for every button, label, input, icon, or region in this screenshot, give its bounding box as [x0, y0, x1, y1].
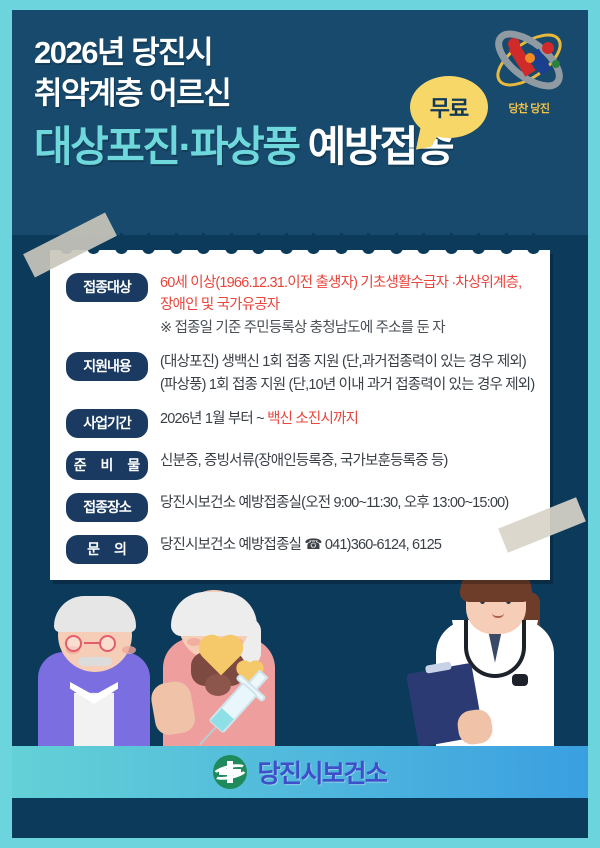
- doctor-illustration: [418, 555, 568, 770]
- free-badge-label: 무료: [430, 91, 468, 123]
- info-row-label: 사업기간: [66, 409, 148, 438]
- info-text: 신분증, 증빙서류(장애인등록증, 국가보훈등록증 등): [160, 453, 448, 469]
- info-text: 2026년 1월 부터 ~: [160, 411, 267, 427]
- info-row-content: 신분증, 증빙서류(장애인등록증, 국가보훈등록증 등): [148, 450, 532, 472]
- title-vaccine-names: 대상포진·파상풍: [34, 123, 298, 170]
- info-card-wrapper: 접종대상60세 이상(1966.12.31.이전 출생자) 기초생활수급자 ·차…: [50, 250, 550, 580]
- info-row-content: (대상포진) 생백신 1회 접종 지원 (단,과거접종력이 있는 경우 제외)(…: [148, 351, 534, 396]
- poster-footer: 당진시보건소: [12, 746, 588, 798]
- title-line-3: 대상포진·파상풍 예방접종: [34, 124, 566, 170]
- info-row-label: 접종대상: [66, 273, 148, 302]
- dangjin-city-emblem-icon: 당찬 당진: [486, 24, 572, 116]
- info-row-label: 지원내용: [66, 352, 148, 381]
- info-row-line: 당진시보건소 예방접종실(오전 9:00~11:30, 오후 13:00~15:…: [160, 492, 532, 514]
- info-row: 문 의당진시보건소 예방접종실 ☎ 041)360-6124, 6125: [66, 534, 532, 564]
- info-text-emphasis: 백신 소진시까지: [267, 411, 358, 427]
- poster-root: 2026년 당진시 취약계층 어르신 대상포진·파상풍 예방접종 무료 당찬 당…: [0, 0, 600, 848]
- info-row-content: 60세 이상(1966.12.31.이전 출생자) 기초생활수급자 ·차상위계층…: [148, 272, 532, 339]
- info-row-line: ※ 접종일 기준 주민등록상 충청남도에 주소를 둔 자: [160, 317, 532, 339]
- info-row: 접종장소당진시보건소 예방접종실(오전 9:00~11:30, 오후 13:00…: [66, 492, 532, 522]
- eyeglasses-icon: [63, 635, 127, 652]
- info-row-content: 2026년 1월 부터 ~ 백신 소진시까지: [148, 408, 532, 430]
- info-row-line: (대상포진) 생백신 1회 접종 지원 (단,과거접종력이 있는 경우 제외): [160, 351, 534, 373]
- info-row-line: 신분증, 증빙서류(장애인등록증, 국가보훈등록증 등): [160, 450, 532, 472]
- info-row: 접종대상60세 이상(1966.12.31.이전 출생자) 기초생활수급자 ·차…: [66, 272, 532, 339]
- info-text: 60세 이상(1966.12.31.이전 출생자) 기초생활수급자 ·차상위계층…: [160, 275, 521, 291]
- info-text: (파상풍) 1회 접종 지원 (단,10년 이내 과거 접종력이 있는 경우 제…: [160, 377, 534, 393]
- footer-organization-name: 당진시보건소: [257, 754, 386, 790]
- info-row: 준 비 물신분증, 증빙서류(장애인등록증, 국가보훈등록증 등): [66, 450, 532, 480]
- info-row-content: 당진시보건소 예방접종실 ☎ 041)360-6124, 6125: [148, 534, 532, 556]
- info-row-line: 60세 이상(1966.12.31.이전 출생자) 기초생활수급자 ·차상위계층…: [160, 272, 532, 294]
- poster-body: 2026년 당진시 취약계층 어르신 대상포진·파상풍 예방접종 무료 당찬 당…: [12, 10, 588, 838]
- info-text: 당진시보건소 예방접종실(오전 9:00~11:30, 오후 13:00~15:…: [160, 495, 508, 511]
- info-card: 접종대상60세 이상(1966.12.31.이전 출생자) 기초생활수급자 ·차…: [50, 250, 550, 580]
- info-text: 당진시보건소 예방접종실 ☎ 041)360-6124, 6125: [160, 537, 441, 553]
- info-row-line: 당진시보건소 예방접종실 ☎ 041)360-6124, 6125: [160, 534, 532, 556]
- free-badge: 무료: [410, 76, 488, 138]
- info-row-label: 준 비 물: [66, 451, 148, 480]
- info-row-content: 당진시보건소 예방접종실(오전 9:00~11:30, 오후 13:00~15:…: [148, 492, 532, 514]
- info-text: (대상포진) 생백신 1회 접종 지원 (단,과거접종력이 있는 경우 제외): [160, 354, 526, 370]
- info-row-line: 2026년 1월 부터 ~ 백신 소진시까지: [160, 408, 532, 430]
- health-center-logo-icon: [213, 755, 247, 789]
- info-row-label: 문 의: [66, 535, 148, 564]
- emblem-slogan: 당찬 당진: [486, 100, 572, 116]
- info-row-line: 장애인 및 국가유공자: [160, 294, 532, 316]
- info-row-label: 접종장소: [66, 493, 148, 522]
- info-row: 사업기간2026년 1월 부터 ~ 백신 소진시까지: [66, 408, 532, 438]
- info-row-line: (파상풍) 1회 접종 지원 (단,10년 이내 과거 접종력이 있는 경우 제…: [160, 374, 534, 396]
- info-row: 지원내용(대상포진) 생백신 1회 접종 지원 (단,과거접종력이 있는 경우 …: [66, 351, 532, 396]
- info-text: ※ 접종일 기준 주민등록상 충청남도에 주소를 둔 자: [160, 320, 445, 336]
- info-row-list: 접종대상60세 이상(1966.12.31.이전 출생자) 기초생활수급자 ·차…: [50, 250, 550, 564]
- info-text: 장애인 및 국가유공자: [160, 297, 279, 313]
